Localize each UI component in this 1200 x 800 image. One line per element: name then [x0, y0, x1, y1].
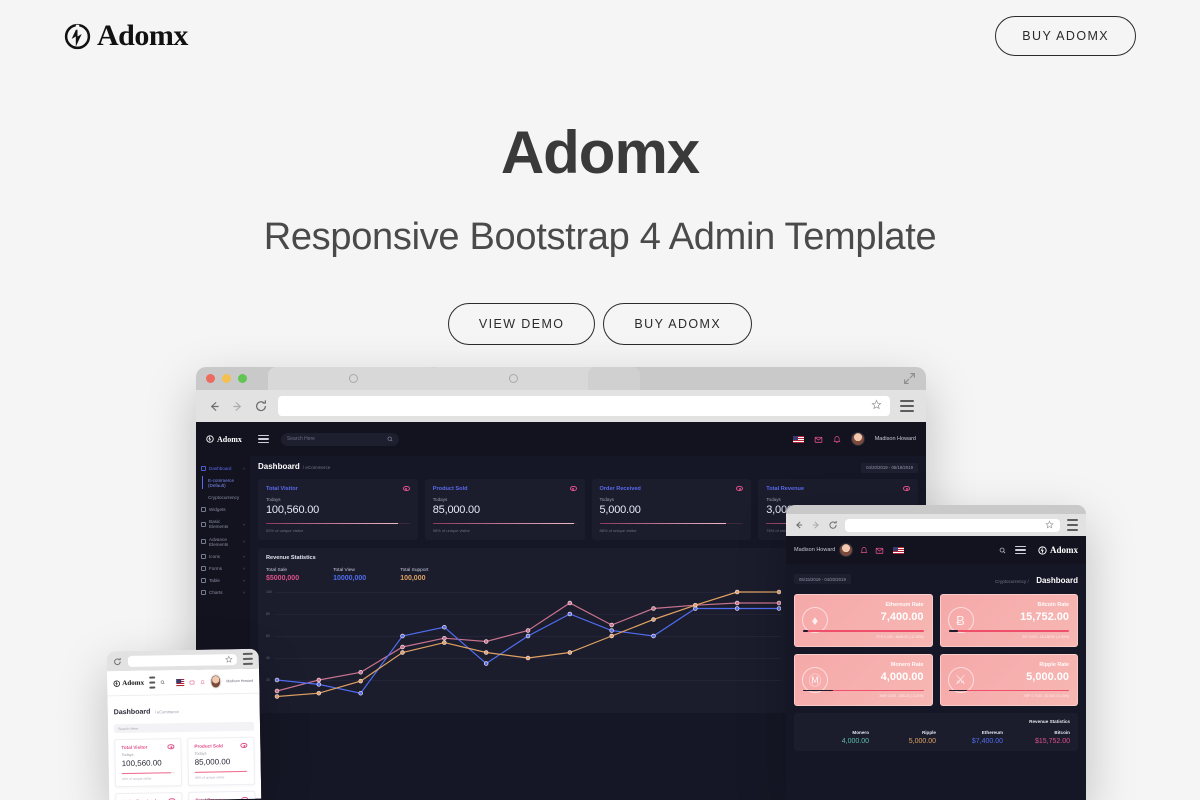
breadcrumb: Dashboard / eCommerce: [114, 699, 254, 719]
stat-card-title: Product Sold: [433, 486, 468, 492]
chevron-down-icon[interactable]: ˅: [243, 566, 245, 571]
us-flag-icon[interactable]: [176, 678, 185, 685]
hero-section: Adomx Responsive Bootstrap 4 Admin Templ…: [0, 120, 1200, 345]
mobile-logo-text: Adomx: [122, 679, 144, 687]
star-icon[interactable]: [871, 397, 882, 415]
star-icon[interactable]: [1045, 516, 1054, 534]
date-range-picker[interactable]: 04/20/2019 - 05/19/2019: [861, 463, 918, 473]
sidebar-item-basic-elements[interactable]: Basic Elements˅: [196, 516, 250, 533]
bell-icon[interactable]: [860, 546, 868, 555]
revenue-total-label: Total Support: [400, 568, 428, 573]
bell-icon[interactable]: [833, 435, 841, 444]
chevron-down-icon[interactable]: ˅: [243, 539, 245, 544]
breadcrumb: Dashboard / eCommerce 04/20/2019 - 05/19…: [258, 462, 918, 473]
mobile-logo[interactable]: Adomx: [113, 679, 144, 688]
avatar[interactable]: [839, 543, 853, 557]
crypto-revenue-row: Monero4,000.00Ripple5,000.00Ethereum$7,4…: [802, 730, 1070, 745]
url-input[interactable]: [128, 654, 237, 667]
progress-bar: [600, 523, 744, 525]
crypto-card-note: XRP 0.7100 - 30,400.13 (-5%): [949, 694, 1070, 698]
stat-card-title: Total Visitor: [266, 486, 298, 492]
progress-bar: [803, 630, 924, 632]
revenue-total: Total View10000,000: [333, 568, 366, 582]
panel-title: Revenue Statistics: [266, 555, 781, 561]
sidebar-item-label: Charts: [209, 590, 223, 595]
reload-icon[interactable]: [254, 399, 268, 413]
sidebar-item-table[interactable]: Table˅: [196, 575, 250, 587]
sidebar-item-label: Widgets: [209, 507, 226, 512]
stat-card-note: 98% of unique visitor: [433, 528, 577, 533]
revenue-total-value: 10000,000: [333, 575, 366, 582]
revenue-total-label: Total View: [333, 568, 366, 573]
sidebar-item-icons[interactable]: Icons˅: [196, 550, 250, 562]
stat-card-title: Product Sold: [194, 743, 223, 748]
search-placeholder: Search Here: [118, 726, 138, 730]
date-range-picker[interactable]: 05/15/2019 - 04/20/2019: [794, 574, 851, 584]
breadcrumb-sub: / eCommerce: [155, 709, 179, 714]
hamburger-menu-icon[interactable]: [1067, 519, 1078, 531]
crypto-revenue-value: 5,000.00: [869, 738, 936, 745]
mail-icon[interactable]: [875, 546, 884, 555]
browser-tabbar: [786, 505, 1086, 514]
hamburger-menu-icon[interactable]: [900, 400, 914, 412]
chevron-down-icon[interactable]: ˄: [243, 466, 245, 471]
browser-tab[interactable]: [588, 367, 640, 390]
revenue-total: Total Support100,000: [400, 568, 428, 582]
page-title: Adomx: [0, 120, 1200, 186]
crypto-revenue-value: $15,752.00: [1003, 738, 1070, 745]
arrow-left-icon[interactable]: [208, 400, 221, 413]
ripple-icon: ⚔: [948, 667, 974, 693]
stat-card-note: 88% of unique visitor: [600, 528, 744, 533]
progress-bar: [122, 772, 175, 774]
stat-card-value: 85,000.00: [195, 757, 248, 767]
panel-title: Revenue Statistics: [802, 719, 1070, 724]
eye-icon[interactable]: [903, 486, 910, 491]
eye-icon[interactable]: [570, 486, 577, 491]
stat-card-title: Total Revenue: [766, 486, 804, 492]
revenue-total: Total Sale$5000,000: [266, 568, 299, 582]
widgets-icon: [201, 507, 206, 512]
hamburger-menu-icon[interactable]: [1015, 546, 1026, 555]
stat-card-sub: Todays: [194, 751, 247, 756]
stat-card: Order ReceivedTodays5,000.0088% of uniqu…: [592, 479, 752, 540]
breadcrumb-title: Dashboard: [1036, 576, 1078, 585]
stat-card-value: 85,000.00: [433, 504, 577, 516]
dashboard-topnav: Adomx Search Here Madison Howard: [196, 422, 926, 456]
dashboard-logo-text: Adomx: [217, 435, 242, 444]
stat-card: Product SoldTodays85,000.0098% of unique…: [425, 479, 585, 540]
mail-icon[interactable]: [190, 678, 196, 685]
us-flag-icon[interactable]: [793, 436, 804, 443]
revenue-line-chart: 20406080100: [266, 588, 781, 706]
us-flag-icon[interactable]: [893, 547, 904, 554]
crypto-revenue-label: Ethereum: [936, 730, 1003, 735]
stat-card-sub: Todays: [600, 497, 744, 502]
crypto-rate-cards: ♦Ethereum Rate7,400.00ETH 0.100 - 5648.2…: [794, 594, 1078, 706]
browser-tab[interactable]: [268, 367, 438, 390]
sidebar-item-label: Icons: [209, 554, 220, 559]
mobile-stat-cards: Total VisitorTodays100,560.0092% of uniq…: [114, 737, 256, 800]
revenue-total-value: 100,000: [400, 575, 428, 582]
crypto-dashboard: 05/15/2019 - 04/20/2019 Cryptocurrency /…: [786, 564, 1086, 800]
adomx-logo-icon: [206, 435, 214, 443]
sidebar-item-label: Advance Elements: [209, 537, 240, 547]
breadcrumb-sub: Cryptocurrency /: [995, 579, 1029, 584]
avatar[interactable]: [851, 432, 865, 446]
star-icon[interactable]: [225, 650, 233, 668]
crypto-revenue-value: 4,000.00: [802, 738, 869, 745]
progress-bar: [949, 690, 1070, 692]
crypto-revenue-label: Monero: [802, 730, 869, 735]
view-demo-button[interactable]: VIEW DEMO: [448, 303, 596, 345]
arrow-right-icon[interactable]: [811, 520, 821, 530]
site-header: Adomx BUY ADOMX: [0, 0, 1200, 72]
breadcrumb: 05/15/2019 - 04/20/2019 Cryptocurrency /…: [794, 570, 1078, 588]
dashboard-logo[interactable]: Adomx: [206, 435, 242, 444]
crypto-revenue-value: $7,400.00: [936, 738, 1003, 745]
minimize-window-dot[interactable]: [222, 374, 231, 383]
stat-card-value: 5,000.00: [600, 504, 744, 516]
adomx-logo-icon: [113, 680, 120, 687]
search-input[interactable]: Search Here: [114, 722, 254, 733]
mobile-topnav: Adomx Madison Howard: [107, 669, 259, 697]
crypto-card-title: Monero Rate: [803, 662, 924, 668]
close-tab-icon[interactable]: [509, 374, 518, 383]
breadcrumb-sub: / eCommerce: [303, 465, 331, 470]
progress-bar: [949, 630, 1070, 632]
breadcrumb-title: Dashboard: [258, 462, 300, 471]
browser-tabbar: [196, 367, 926, 390]
sidebar-item-dashboard[interactable]: Dashboard˄: [196, 462, 250, 474]
crypto-card-title: Bitcoin Rate: [949, 602, 1070, 608]
stat-card: Total VisitorTodays100,560.0092% of uniq…: [258, 479, 418, 540]
user-name: Madison Howard: [794, 547, 835, 553]
progress-bar: [433, 523, 577, 525]
progress-bar: [266, 523, 410, 525]
progress-bar: [195, 771, 248, 773]
chevron-down-icon[interactable]: ˅: [243, 590, 245, 595]
hamburger-menu-icon[interactable]: [258, 435, 269, 444]
avatar[interactable]: [210, 674, 222, 688]
adomx-logo-icon: [1038, 546, 1047, 555]
crypto-logo[interactable]: Adomx: [1038, 545, 1078, 555]
close-tab-icon[interactable]: [349, 374, 358, 383]
eye-icon[interactable]: [736, 486, 743, 491]
stat-card-sub: Todays: [266, 497, 410, 502]
crypto-revenue-cell: Ethereum$7,400.00: [936, 730, 1003, 745]
chart-icon: [201, 590, 206, 595]
eye-icon[interactable]: [167, 744, 174, 749]
site-logo-text: Adomx: [97, 19, 188, 53]
crypto-revenue-label: Ripple: [869, 730, 936, 735]
user-name: Madison Howard: [226, 679, 253, 683]
mobile-stat-card: Product SoldTodays85,000.0098% of unique…: [187, 737, 255, 786]
mobile-stat-card: Total RevenueTodays3,000,000.0076% of un…: [188, 791, 256, 800]
breadcrumb-title: Dashboard: [114, 709, 151, 717]
crypto-revenue-cell: Monero4,000.00: [802, 730, 869, 745]
box-icon: [201, 522, 206, 527]
sidebar-item-label: Forms: [209, 566, 222, 571]
crypto-revenue-cell: Bitcoin$15,752.00: [1003, 730, 1070, 745]
sidebar-item-label: Cryptocurrency: [208, 495, 239, 500]
hero-buy-button[interactable]: BUY ADOMX: [603, 303, 752, 345]
sidebar-item-label: E-commerce (Default): [208, 478, 245, 488]
stat-card-note: 98% of unique visitor: [195, 775, 248, 780]
search-placeholder: Search Here: [287, 436, 315, 442]
sidebar-item-advance-elements[interactable]: Advance Elements˅: [196, 533, 250, 550]
monero-icon: Ⓜ: [802, 667, 828, 693]
page-subtitle: Responsive Bootstrap 4 Admin Template: [0, 216, 1200, 259]
arrow-left-icon[interactable]: [794, 520, 804, 530]
revenue-statistics-panel: Revenue Statistics Total Sale$5000,000To…: [258, 548, 789, 713]
stat-card-sub: Todays: [433, 497, 577, 502]
eye-icon[interactable]: [403, 486, 410, 491]
search-input[interactable]: Search Here: [281, 433, 399, 446]
crypto-card-title: Ethereum Rate: [803, 602, 924, 608]
browser-tab[interactable]: [428, 367, 598, 390]
browser-urlbar: [786, 514, 1086, 536]
crypto-topnav: Madison Howard Adomx: [786, 536, 1086, 564]
eye-icon[interactable]: [240, 743, 247, 748]
reload-icon[interactable]: [113, 657, 122, 666]
crypto-card-note: XMR 0.600 - 585.23 (-3.22%): [803, 694, 924, 698]
crypto-rate-card: ⚔Ripple Rate5,000.00XRP 0.7100 - 30,400.…: [940, 654, 1079, 707]
sidebar-item-forms[interactable]: Forms˅: [196, 562, 250, 574]
hamburger-menu-icon[interactable]: [149, 676, 155, 688]
user-name: Madison Howard: [875, 436, 916, 442]
search-icon[interactable]: [160, 679, 165, 685]
stat-card-sub: Todays: [121, 752, 174, 757]
window-controls[interactable]: [206, 374, 247, 383]
hamburger-menu-icon[interactable]: [243, 653, 253, 665]
search-icon: [387, 436, 393, 442]
stat-card-sub: Todays: [766, 497, 910, 502]
revenue-total-value: $5000,000: [266, 575, 299, 582]
mobile-urlbar: [107, 649, 259, 672]
icons-icon: [201, 554, 206, 559]
crypto-logo-text: Adomx: [1050, 545, 1078, 555]
hero-actions: VIEW DEMO BUY ADOMX: [0, 303, 1200, 345]
stat-card-note: 92% of unique visitor: [266, 528, 410, 533]
sidebar-item-charts[interactable]: Charts˅: [196, 587, 250, 599]
stat-card-note: 92% of unique visitor: [122, 776, 175, 781]
sidebar-item-cryptocurrency[interactable]: Cryptocurrency: [196, 491, 250, 503]
stat-card-title: Total Visitor: [121, 745, 147, 750]
forms-icon: [201, 566, 206, 571]
header-buy-button[interactable]: BUY ADOMX: [995, 16, 1136, 56]
expand-arrows-icon[interactable]: [903, 372, 916, 385]
adomx-logo-icon: [64, 23, 91, 50]
bell-icon[interactable]: [200, 678, 205, 685]
mail-icon[interactable]: [814, 435, 823, 444]
mobile-dashboard: Adomx Madison Howard Dashboard / eCommer…: [107, 669, 261, 800]
mobile-stat-card: Total VisitorTodays100,560.0092% of uniq…: [114, 738, 182, 787]
mobile-stat-card: Order ReceivedTodays5,000.0088% of uniqu…: [115, 792, 183, 800]
table-icon: [201, 578, 206, 583]
topnav-right: Madison Howard: [793, 432, 916, 446]
crypto-revenue-cell: Ripple5,000.00: [869, 730, 936, 745]
crypto-browser-mockup: Madison Howard Adomx 05/15/2019 - 04/20/…: [786, 505, 1086, 800]
url-input[interactable]: [845, 519, 1060, 532]
sidebar-item-e-commerce-default[interactable]: E-commerce (Default): [196, 474, 250, 491]
crypto-rate-card: ⓂMonero Rate4,000.00XMR 0.600 - 585.23 (…: [794, 654, 933, 707]
stat-card-value: 100,560.00: [266, 504, 410, 516]
url-input[interactable]: [278, 396, 890, 416]
sidebar-item-widgets[interactable]: Widgets: [196, 504, 250, 516]
site-logo[interactable]: Adomx: [64, 19, 188, 53]
crypto-card-note: BIT 0.003 - 16,156.00 (-0.50%): [949, 635, 1070, 639]
reload-icon[interactable]: [828, 520, 838, 530]
mobile-main: Dashboard / eCommerce Search Here Total …: [107, 694, 261, 800]
chevron-down-icon[interactable]: ˅: [243, 578, 245, 583]
maximize-window-dot[interactable]: [238, 374, 247, 383]
chevron-down-icon[interactable]: ˅: [243, 522, 245, 527]
crypto-card-note: ETH 0.100 - 5648.20 (-11.33%): [803, 635, 924, 639]
chevron-down-icon[interactable]: ˅: [243, 554, 245, 559]
sidebar-item-label: Dashboard: [209, 466, 231, 471]
mobile-browser-mockup: Adomx Madison Howard Dashboard / eCommer…: [107, 649, 262, 800]
browser-urlbar: [196, 390, 926, 422]
arrow-right-icon[interactable]: [231, 400, 244, 413]
stat-card-title: Order Received: [600, 486, 641, 492]
revenue-total-label: Total Sale: [266, 568, 299, 573]
sidebar-item-label: Table: [209, 578, 220, 583]
revenue-totals: Total Sale$5000,000Total View10000,000To…: [266, 568, 781, 582]
stat-card-value: 100,560.00: [122, 758, 175, 768]
layers-icon: [201, 539, 206, 544]
sidebar-item-label: Basic Elements: [209, 519, 240, 529]
crypto-card-title: Ripple Rate: [949, 662, 1070, 668]
crypto-rate-card: ♦Ethereum Rate7,400.00ETH 0.100 - 5648.2…: [794, 594, 933, 647]
progress-bar: [803, 690, 924, 692]
search-icon[interactable]: [999, 547, 1006, 554]
chart-plot: [266, 588, 781, 706]
crypto-rate-card: ɃBitcoin Rate15,752.00BIT 0.003 - 16,156…: [940, 594, 1079, 647]
home-icon: [201, 466, 206, 471]
close-window-dot[interactable]: [206, 374, 215, 383]
crypto-revenue-panel: Revenue Statistics Monero4,000.00Ripple5…: [794, 713, 1078, 751]
crypto-revenue-label: Bitcoin: [1003, 730, 1070, 735]
